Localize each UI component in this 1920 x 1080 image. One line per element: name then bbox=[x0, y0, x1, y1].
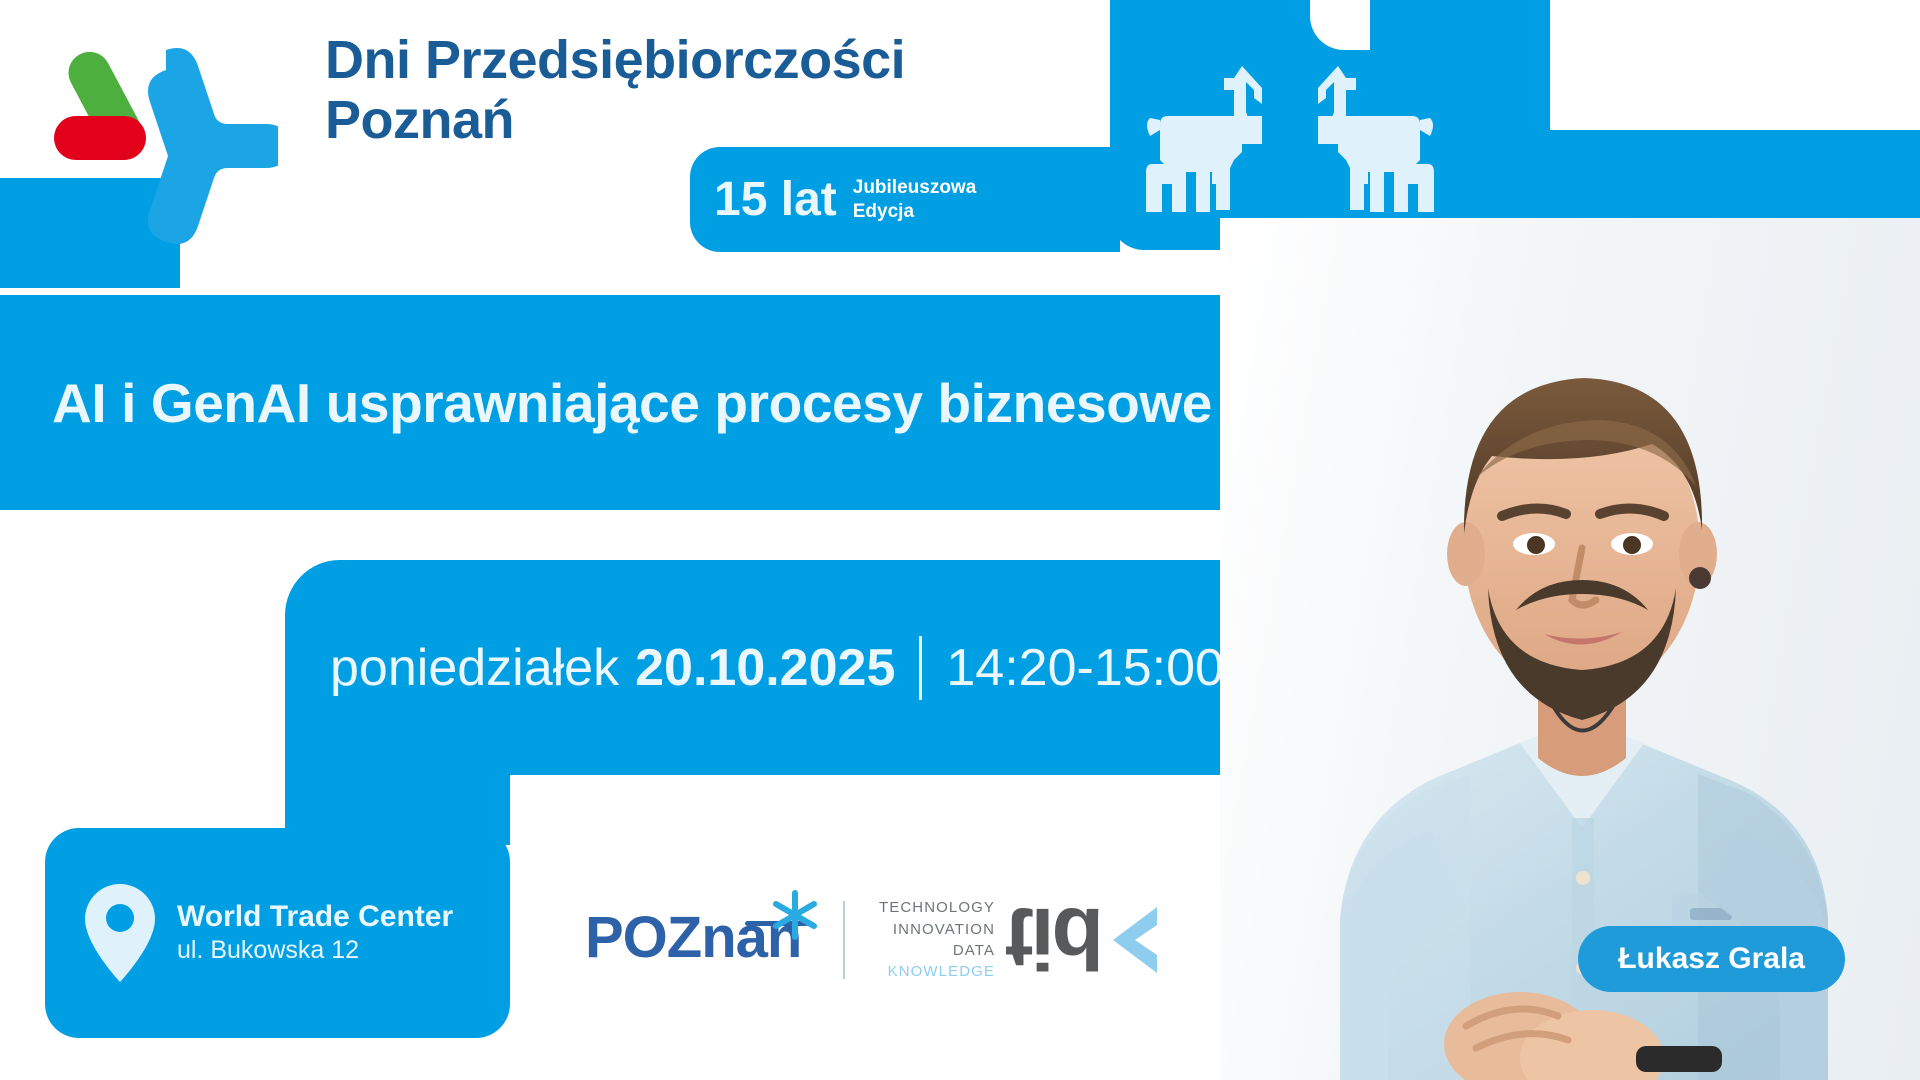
session-datetime-band: poniedziałek 20.10.2025 14:20-15:00 bbox=[285, 560, 1345, 775]
anniversary-badge: 15 lat Jubileuszowa Edycja bbox=[690, 147, 1120, 252]
venue-card: World Trade Center ul. Bukowska 12 bbox=[45, 828, 510, 1038]
logo-red-bar bbox=[54, 116, 146, 160]
logo-blue-arrow bbox=[148, 48, 278, 244]
tidk-line-knowledge: KNOWLEDGE bbox=[888, 961, 995, 982]
poznan-upper: POZ bbox=[585, 905, 701, 970]
tidk-logo: TECHNOLOGY INNOVATION DATA KNOWLEDGE tid bbox=[879, 897, 1150, 982]
tidk-mark-text: tid bbox=[1005, 895, 1101, 981]
tidk-line-innovation: INNOVATION bbox=[893, 919, 995, 940]
session-title-band: AI i GenAI usprawniające procesy bizneso… bbox=[0, 295, 1340, 510]
page-title: Dni Przedsiębiorczości Poznań bbox=[325, 30, 905, 151]
tidk-tagline: TECHNOLOGY INNOVATION DATA KNOWLEDGE bbox=[879, 897, 995, 982]
event-banner: Dni Przedsiębiorczości Poznań 15 lat Jub… bbox=[0, 0, 1920, 1080]
session-weekday: poniedziałek bbox=[330, 638, 619, 698]
partner-logos: POZnan TECHNOLOGY INNOVATION DATA KNOWLE… bbox=[575, 880, 1185, 1000]
datetime-divider bbox=[919, 636, 922, 700]
poznan-billy-goats-icon bbox=[1130, 45, 1450, 225]
asterisk-star-icon bbox=[767, 887, 823, 948]
session-time: 14:20-15:00 bbox=[946, 638, 1224, 698]
chevron-left-icon bbox=[1113, 907, 1157, 978]
anniversary-years: 15 lat bbox=[714, 176, 837, 224]
poznan-logo: POZnan bbox=[575, 895, 825, 985]
partner-divider bbox=[843, 901, 845, 979]
session-title: AI i GenAI usprawniające procesy bizneso… bbox=[0, 371, 1212, 435]
dni-przedsiebiorczosci-logo bbox=[48, 28, 278, 258]
tidk-line-technology: TECHNOLOGY bbox=[879, 897, 995, 918]
map-pin-icon bbox=[85, 884, 155, 982]
venue-name: World Trade Center bbox=[177, 899, 453, 935]
tidk-line-data: DATA bbox=[953, 940, 995, 961]
session-date: 20.10.2025 bbox=[635, 638, 895, 698]
anniversary-subtitle: Jubileuszowa Edycja bbox=[853, 176, 977, 222]
venue-address: ul. Bukowska 12 bbox=[177, 935, 453, 966]
speaker-name-badge: Łukasz Grala bbox=[1578, 926, 1845, 992]
tidk-wordmark: tid bbox=[1005, 899, 1150, 981]
